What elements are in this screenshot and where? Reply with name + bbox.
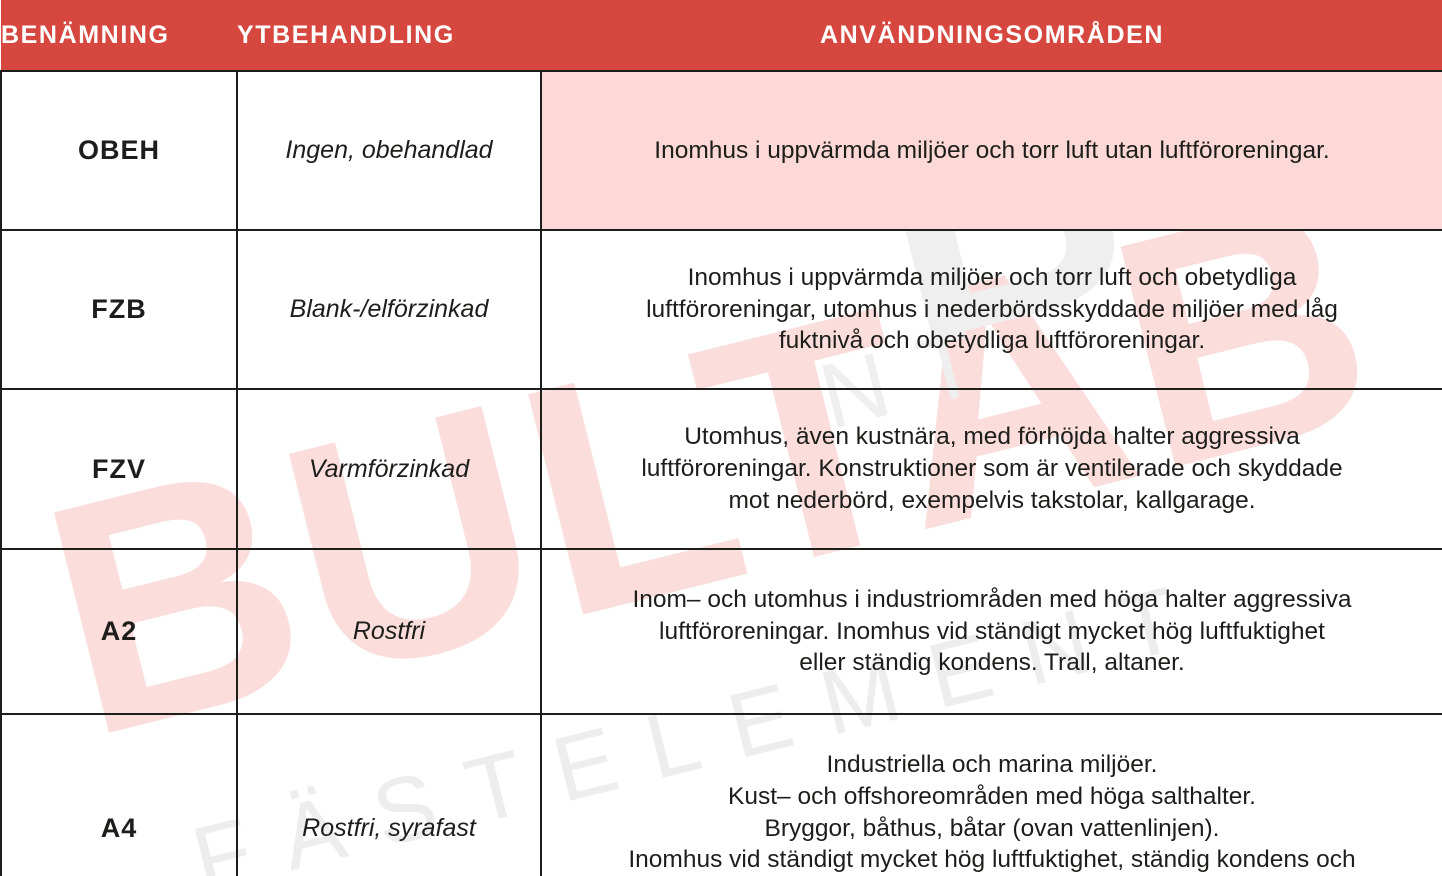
usage-line: Kust– och offshoreområden med höga salth… (552, 781, 1432, 813)
usage-line: luftföroreningar. Inomhus vid ständigt m… (552, 616, 1432, 648)
cell-usage: Utomhus, även kustnära, med förhöjda hal… (541, 389, 1442, 549)
usage-line: luftföroreningar, utomhus i nederbördssk… (552, 294, 1432, 326)
cell-code: FZB (1, 230, 237, 389)
table-row: FZV Varmförzinkad Utomhus, även kustnära… (1, 389, 1442, 549)
usage-line: eller ständig kondens. Trall, altaner. (552, 647, 1432, 679)
cell-code: A4 (1, 714, 237, 876)
usage-line: Industriella och marina miljöer. (552, 749, 1432, 781)
cell-usage: Inom– och utomhus i industriområden med … (541, 549, 1442, 714)
cell-usage: Inomhus i uppvärmda miljöer och torr luf… (541, 230, 1442, 389)
usage-line: luftföroreningar. Konstruktioner som är … (552, 453, 1432, 485)
table-body: OBEH Ingen, obehandlad Inomhus i uppvärm… (1, 71, 1442, 876)
table-row: FZB Blank-/elförzinkad Inomhus i uppvärm… (1, 230, 1442, 389)
page-root: BULTAB B FÄSTELEMENT NT BENÄMNING YTBEHA… (0, 0, 1442, 876)
cell-usage: Industriella och marina miljöer. Kust– o… (541, 714, 1442, 876)
column-header-anvandningsomraden: ANVÄNDNINGSOMRÅDEN (541, 0, 1442, 71)
cell-surface: Varmförzinkad (237, 389, 541, 549)
usage-line: Inom– och utomhus i industriområden med … (552, 584, 1432, 616)
usage-line: Bryggor, båthus, båtar (ovan vattenlinje… (552, 813, 1432, 845)
column-header-benamning: BENÄMNING (1, 0, 237, 71)
cell-surface: Rostfri, syrafast (237, 714, 541, 876)
usage-line: mot nederbörd, exempelvis takstolar, kal… (552, 485, 1432, 517)
cell-code: OBEH (1, 71, 237, 230)
table-header-row: BENÄMNING YTBEHANDLING ANVÄNDNINGSOMRÅDE… (1, 0, 1442, 71)
usage-line: Inomhus i uppvärmda miljöer och torr luf… (552, 262, 1432, 294)
table-row: OBEH Ingen, obehandlad Inomhus i uppvärm… (1, 71, 1442, 230)
surface-treatment-table: BENÄMNING YTBEHANDLING ANVÄNDNINGSOMRÅDE… (0, 0, 1442, 876)
table-header: BENÄMNING YTBEHANDLING ANVÄNDNINGSOMRÅDE… (1, 0, 1442, 71)
cell-surface: Rostfri (237, 549, 541, 714)
table-row: A2 Rostfri Inom– och utomhus i industrio… (1, 549, 1442, 714)
cell-code: FZV (1, 389, 237, 549)
cell-surface: Blank-/elförzinkad (237, 230, 541, 389)
column-header-ytbehandling: YTBEHANDLING (237, 0, 541, 71)
usage-line: Inomhus i uppvärmda miljöer och torr luf… (552, 135, 1432, 167)
cell-surface: Ingen, obehandlad (237, 71, 541, 230)
usage-line: Inomhus vid ständigt mycket hög luftfukt… (552, 844, 1432, 876)
table-row: A4 Rostfri, syrafast Industriella och ma… (1, 714, 1442, 876)
cell-usage: Inomhus i uppvärmda miljöer och torr luf… (541, 71, 1442, 230)
usage-line: Utomhus, även kustnära, med förhöjda hal… (552, 421, 1432, 453)
usage-line: fuktnivå och obetydliga luftföroreningar… (552, 325, 1432, 357)
cell-code: A2 (1, 549, 237, 714)
